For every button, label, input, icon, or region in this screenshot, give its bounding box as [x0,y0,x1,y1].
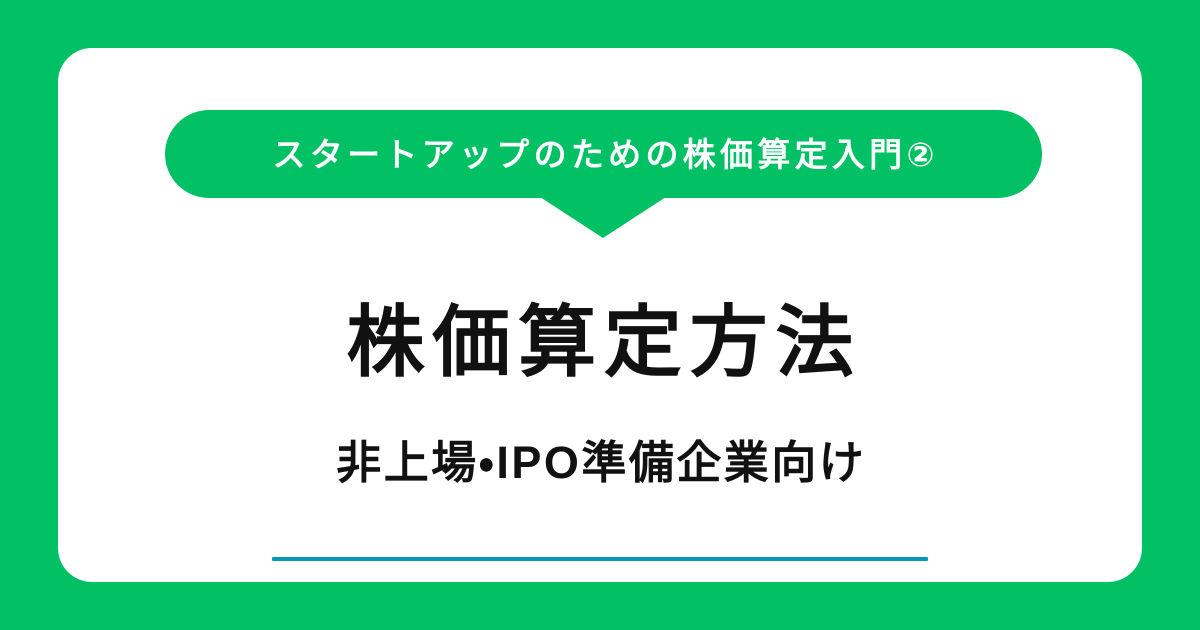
page-title: 株価算定方法 [58,296,1142,388]
content-card: スタートアップのための株価算定入門② 株価算定方法 非上場・IPO準備企業向け [58,48,1142,582]
ogp-canvas: スタートアップのための株価算定入門② 株価算定方法 非上場・IPO準備企業向け [0,0,1200,630]
page-subtitle: 非上場・IPO準備企業向け [334,435,866,491]
badge-pointer-triangle-icon [540,197,666,238]
subtitle-block: 非上場・IPO準備企業向け [58,398,1142,561]
subtitle-underline-rule [272,557,928,561]
series-badge-label: スタートアップのための株価算定入門② [268,138,938,171]
series-badge-pill: スタートアップのための株価算定入門② [165,110,1042,198]
series-badge: スタートアップのための株価算定入門② [165,110,1042,198]
